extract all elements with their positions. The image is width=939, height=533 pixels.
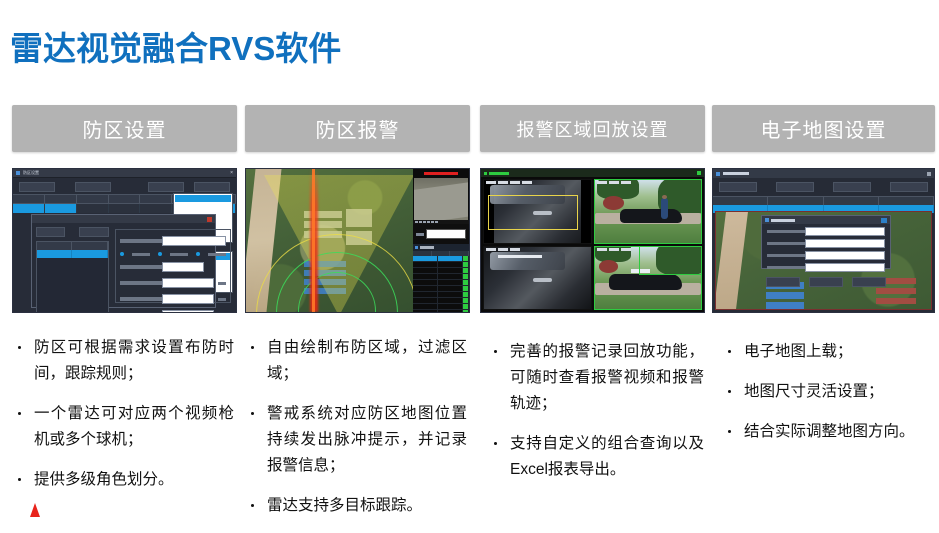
th-index bbox=[13, 195, 45, 203]
osd-seg bbox=[510, 181, 520, 184]
th-map-direction bbox=[879, 197, 934, 205]
alarm-list-header bbox=[413, 244, 469, 251]
td-time bbox=[438, 310, 463, 313]
list-item: 提供多级角色划分。 bbox=[16, 467, 234, 493]
td-zone bbox=[413, 286, 438, 291]
page-title: 雷达视觉融合RVS软件 bbox=[10, 22, 341, 70]
field-input-trigger-delay[interactable] bbox=[162, 294, 214, 304]
td-zone bbox=[413, 298, 438, 303]
modal-titlebar bbox=[32, 215, 215, 223]
field-input-map-path[interactable] bbox=[805, 239, 885, 248]
td-camera-select[interactable] bbox=[77, 204, 109, 213]
letterbox-right bbox=[581, 180, 591, 243]
td-zone bbox=[413, 274, 438, 279]
detection-box bbox=[488, 195, 577, 230]
red-caret-marker bbox=[30, 503, 40, 517]
column-alarm-playback: 报警区域回放设置 bbox=[480, 105, 705, 313]
alarm-search-row bbox=[413, 224, 469, 244]
apply-button[interactable] bbox=[148, 182, 184, 192]
status-badge bbox=[463, 256, 469, 261]
status-badge bbox=[463, 274, 469, 279]
tracking-mode-radios[interactable] bbox=[120, 252, 226, 256]
status-badge bbox=[463, 268, 469, 273]
video-grid bbox=[481, 177, 704, 312]
add-map-modal[interactable] bbox=[761, 215, 891, 269]
radio-near[interactable] bbox=[120, 252, 124, 256]
osd-seg bbox=[498, 248, 508, 251]
field-label-name bbox=[120, 239, 162, 243]
th-mode bbox=[140, 195, 172, 203]
field-label-target-size bbox=[120, 265, 162, 269]
play-icon[interactable] bbox=[415, 221, 418, 223]
td-time bbox=[438, 292, 463, 297]
parked-car bbox=[620, 209, 682, 223]
pause-icon[interactable] bbox=[419, 221, 422, 223]
zone-settings-dialog-screenshot[interactable]: 防区设置 × bbox=[12, 168, 237, 313]
td-zone bbox=[413, 256, 438, 261]
rule-form-pane bbox=[115, 229, 231, 303]
radio-auto-label bbox=[208, 253, 226, 256]
status-badge bbox=[463, 286, 469, 291]
osd-seg bbox=[621, 248, 631, 251]
td-zone bbox=[413, 310, 438, 313]
status-badge bbox=[463, 292, 469, 297]
alarm-playback-grid-screenshot[interactable] bbox=[480, 168, 705, 313]
osd-seg bbox=[486, 181, 496, 184]
edit-map-button[interactable] bbox=[776, 182, 814, 192]
rl-td-index bbox=[37, 250, 72, 258]
td-type-select[interactable] bbox=[109, 204, 141, 213]
column-emap-settings: 电子地图设置 bbox=[712, 105, 935, 313]
status-badge bbox=[463, 310, 469, 313]
field-label-map-width bbox=[767, 254, 805, 257]
list-item: 地图尺寸灵活设置； bbox=[726, 379, 932, 405]
field-label-map-path bbox=[767, 242, 805, 245]
live-video-preview[interactable] bbox=[414, 178, 468, 220]
form-row-map-name bbox=[767, 227, 885, 236]
modal-close-icon[interactable] bbox=[881, 218, 887, 223]
td-index bbox=[13, 204, 45, 213]
stop-icon[interactable] bbox=[423, 221, 426, 223]
blue-roof-building bbox=[766, 302, 804, 309]
rl-th-name bbox=[72, 242, 107, 250]
form-row-trigger-delay bbox=[120, 294, 226, 304]
detection-box bbox=[639, 246, 702, 275]
radio-near-label bbox=[132, 253, 150, 256]
td-time bbox=[438, 280, 463, 285]
confirm-button[interactable] bbox=[890, 182, 928, 192]
form-row-hold-time bbox=[120, 310, 226, 313]
td-zone bbox=[413, 268, 438, 273]
snapshot-icon[interactable] bbox=[427, 221, 430, 223]
table-row[interactable] bbox=[413, 310, 469, 313]
alarm-title-text bbox=[424, 172, 458, 175]
confirm-button[interactable] bbox=[809, 277, 843, 287]
blue-roof-building bbox=[766, 292, 804, 299]
td-time bbox=[438, 304, 463, 309]
td-time bbox=[438, 268, 463, 273]
alarm-side-panel bbox=[413, 169, 469, 312]
osd-seg bbox=[486, 248, 496, 251]
playback-title-text bbox=[489, 172, 509, 175]
td-time bbox=[438, 274, 463, 279]
zone-alarm-map-screenshot[interactable] bbox=[245, 168, 470, 313]
td-zone bbox=[413, 262, 438, 267]
radar-beam-core bbox=[312, 169, 315, 312]
list-item: 雷达支持多目标跟踪。 bbox=[249, 493, 467, 519]
fullscreen-icon[interactable] bbox=[435, 221, 438, 223]
browse-button[interactable] bbox=[766, 277, 800, 287]
modal-left-pane bbox=[32, 223, 113, 307]
field-label-map-name bbox=[767, 230, 805, 233]
radio-auto[interactable] bbox=[196, 252, 200, 256]
status-badge bbox=[463, 298, 469, 303]
map-table-header bbox=[713, 196, 934, 205]
td-zone bbox=[413, 280, 438, 285]
person-body bbox=[661, 198, 668, 219]
status-badge bbox=[463, 262, 469, 267]
list-item: 自由绘制布防区域，过滤区域； bbox=[249, 335, 467, 387]
form-row-map-height bbox=[767, 263, 885, 272]
list-item: 一个雷达可对应两个视频枪机或多个球机； bbox=[16, 401, 234, 453]
osd-seg bbox=[597, 181, 607, 184]
field-input-map-name[interactable] bbox=[805, 227, 885, 236]
toolbar-right-group bbox=[148, 182, 230, 192]
td-time bbox=[438, 262, 463, 267]
video-cell-1[interactable] bbox=[483, 179, 592, 244]
radio-far[interactable] bbox=[158, 252, 162, 256]
field-input-map-width[interactable] bbox=[805, 251, 885, 260]
td-mode-select[interactable] bbox=[140, 204, 172, 213]
osd-timestamp bbox=[486, 248, 520, 251]
th-map-width bbox=[768, 197, 823, 205]
emap-titlebar bbox=[713, 169, 934, 178]
cancel-button[interactable] bbox=[852, 277, 886, 287]
th-map-height bbox=[824, 197, 879, 205]
window-icon bbox=[765, 218, 769, 222]
list-icon bbox=[415, 246, 418, 249]
field-input-max-track-time[interactable] bbox=[162, 278, 214, 288]
column-header-emap-settings[interactable]: 电子地图设置 bbox=[712, 105, 935, 152]
alarm-list-title bbox=[420, 246, 434, 249]
add-button[interactable] bbox=[19, 182, 55, 192]
red-roof-building bbox=[876, 288, 916, 294]
bullet-list-zone-settings: 防区可根据需求设置布防时间，跟踪规则； 一个雷达可对应两个视频枪机或多个球机； … bbox=[16, 335, 234, 507]
td-name bbox=[45, 204, 77, 213]
unit-label-seconds-2 bbox=[218, 298, 226, 301]
unit-label-seconds-1 bbox=[218, 282, 226, 285]
parked-car bbox=[609, 274, 681, 290]
rule-list-row-selected[interactable] bbox=[37, 250, 108, 258]
list-item: 完善的报警记录回放功能，可随时查看报警视频和报警轨迹； bbox=[492, 339, 704, 417]
close-icon[interactable] bbox=[927, 172, 931, 176]
window-icon bbox=[16, 171, 20, 175]
column-zone-alarm: 防区报警 bbox=[245, 105, 470, 313]
field-label-trigger-delay bbox=[120, 297, 162, 301]
modal-titlebar bbox=[762, 216, 890, 224]
radio-far-label bbox=[170, 253, 188, 256]
emap-settings-dialog-screenshot[interactable] bbox=[712, 168, 935, 313]
modal-close-icon[interactable] bbox=[207, 217, 212, 222]
search-label bbox=[416, 233, 424, 236]
status-badge bbox=[463, 304, 469, 309]
save-settings-button[interactable] bbox=[194, 182, 230, 192]
dialog-toolbar bbox=[13, 178, 236, 194]
record-icon[interactable] bbox=[431, 221, 434, 223]
red-roof-building bbox=[876, 298, 916, 304]
delete-map-button[interactable] bbox=[833, 182, 871, 192]
form-row-name bbox=[120, 236, 226, 246]
th-camera bbox=[77, 195, 109, 203]
field-label-map-height bbox=[767, 266, 805, 269]
dialog-title-text: 防区设置 bbox=[23, 170, 39, 176]
dialog-titlebar: 防区设置 × bbox=[13, 169, 236, 178]
list-item: 警戒系统对应防区地图位置持续发出脉冲提示，并记录报警信息； bbox=[249, 401, 467, 479]
playback-titlebar bbox=[481, 169, 704, 177]
emap-title-text bbox=[723, 172, 749, 175]
emap-toolbar bbox=[713, 178, 934, 196]
osd-seg bbox=[498, 181, 508, 184]
osd-seg bbox=[609, 181, 619, 184]
osd-seg bbox=[621, 181, 631, 184]
column-zone-settings: 防区设置 防区设置 × bbox=[12, 105, 237, 313]
form-row-target-size bbox=[120, 262, 226, 272]
add-map-button[interactable] bbox=[719, 182, 757, 192]
td-time bbox=[438, 256, 463, 261]
osd-timestamp bbox=[486, 181, 532, 184]
video-cell-2[interactable] bbox=[594, 179, 703, 244]
osd-plate-text bbox=[498, 255, 542, 258]
field-input-name[interactable] bbox=[162, 236, 226, 246]
column-header-alarm-playback[interactable]: 报警区域回放设置 bbox=[480, 105, 705, 152]
form-row-map-width bbox=[767, 251, 885, 260]
zone-rule-modal[interactable] bbox=[31, 214, 216, 308]
bullet-list-alarm-playback: 完善的报警记录回放功能，可随时查看报警视频和报警轨迹； 支持自定义的组合查询以及… bbox=[492, 339, 704, 497]
bullet-list-zone-alarm: 自由绘制布防区域，过滤区域； 警戒系统对应防区地图位置持续发出脉冲提示，并记录报… bbox=[249, 335, 467, 533]
modal-title-text bbox=[771, 219, 795, 222]
close-icon[interactable]: × bbox=[230, 170, 233, 176]
rule-list[interactable] bbox=[36, 241, 109, 313]
osd-seg bbox=[609, 248, 619, 251]
road-in-video bbox=[414, 181, 468, 220]
td-zone bbox=[413, 292, 438, 297]
window-icon bbox=[716, 172, 720, 176]
td-time bbox=[438, 286, 463, 291]
th-map-area bbox=[713, 197, 768, 205]
list-item: 防区可根据需求设置布防时间，跟踪规则； bbox=[16, 335, 234, 387]
search-input[interactable] bbox=[426, 229, 466, 239]
modal-body bbox=[32, 223, 215, 307]
window-icon bbox=[484, 172, 487, 175]
slide-root: 雷达视觉融合RVS软件 防区设置 防区设置 × bbox=[0, 0, 939, 519]
rl-th-index bbox=[37, 242, 72, 250]
field-input-map-height[interactable] bbox=[805, 263, 885, 272]
modal-add-button[interactable] bbox=[36, 227, 65, 237]
field-select-target-size[interactable] bbox=[162, 262, 204, 272]
video-cell-3[interactable] bbox=[483, 246, 592, 311]
form-row-tracking-mode bbox=[120, 252, 226, 256]
bullet-list-emap-settings: 电子地图上载； 地图尺寸灵活设置； 结合实际调整地图方向。 bbox=[726, 339, 932, 459]
modal-left-buttons bbox=[36, 227, 109, 237]
close-icon[interactable] bbox=[697, 171, 701, 175]
rule-list-header bbox=[37, 242, 108, 250]
column-header-zone-settings[interactable]: 防区设置 bbox=[12, 105, 237, 152]
modal-buttons bbox=[762, 277, 890, 287]
osd-timestamp bbox=[597, 248, 631, 251]
rl-td-name bbox=[72, 250, 107, 258]
status-badge bbox=[463, 280, 469, 285]
modal-delete-button[interactable] bbox=[79, 227, 108, 237]
osd-seg bbox=[510, 248, 520, 251]
field-input-hold-time[interactable] bbox=[162, 310, 214, 313]
list-item: 结合实际调整地图方向。 bbox=[726, 419, 932, 445]
video-cell-4[interactable] bbox=[594, 246, 703, 311]
td-time bbox=[438, 298, 463, 303]
red-bush bbox=[599, 260, 618, 273]
list-item: 支持自定义的组合查询以及Excel报表导出。 bbox=[492, 431, 704, 483]
osd-seg bbox=[522, 181, 532, 184]
column-header-zone-alarm[interactable]: 防区报警 bbox=[245, 105, 470, 152]
form-row-max-track-time bbox=[120, 278, 226, 288]
osd-timestamp bbox=[597, 181, 631, 184]
osd-seg bbox=[597, 248, 607, 251]
form-row-map-path bbox=[767, 239, 885, 248]
field-label-max-track-time bbox=[120, 281, 162, 285]
th-name bbox=[45, 195, 77, 203]
radar-list-item-selected[interactable] bbox=[175, 195, 231, 202]
dirt-road bbox=[715, 212, 748, 309]
door-handle bbox=[533, 278, 552, 282]
list-item: 电子地图上载； bbox=[726, 339, 932, 365]
td-zone bbox=[413, 304, 438, 309]
delete-button[interactable] bbox=[75, 182, 111, 192]
th-type bbox=[109, 195, 141, 203]
alarm-panel-title bbox=[413, 169, 469, 177]
